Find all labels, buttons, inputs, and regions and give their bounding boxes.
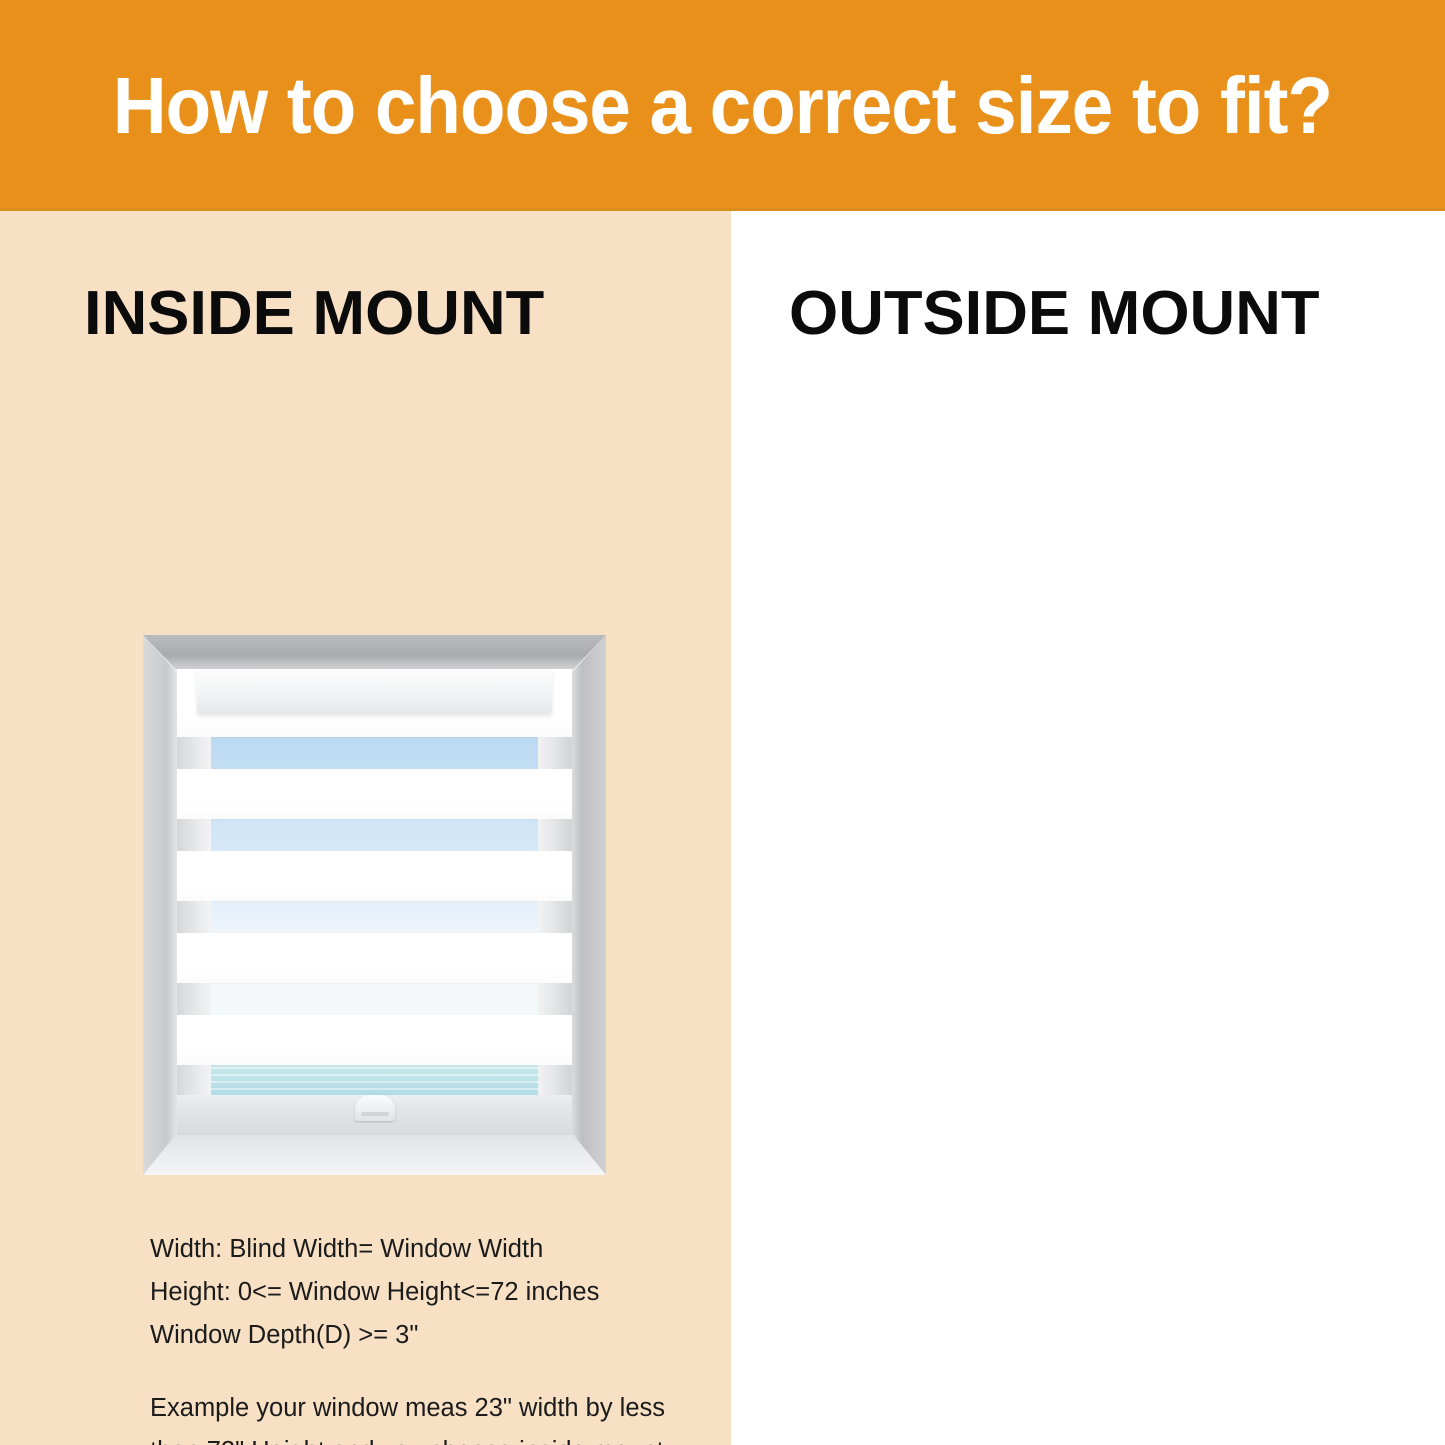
window-sill [143, 1135, 606, 1175]
window-reveal-left [143, 635, 177, 1175]
page-title: How to choose a correct size to fit? [113, 60, 1332, 152]
blind-opaque-band [177, 1015, 572, 1065]
window-reveal-top [143, 635, 606, 669]
blind-sheer-slot [177, 1065, 572, 1097]
inside-mount-panel: INSIDE MOUNT [0, 211, 731, 1445]
blind-opaque-band [177, 851, 572, 901]
blind-headrail [197, 669, 553, 713]
inside-mount-heading: INSIDE MOUNT [84, 278, 544, 349]
blind-sheer-slot [177, 737, 572, 769]
inside-mount-window-diagram [143, 635, 606, 1175]
outside-mount-heading: OUTSIDE MOUNT [789, 278, 1320, 349]
outside-mount-panel: OUTSIDE MOUNT [731, 211, 1445, 1445]
page-header-banner: How to choose a correct size to fit? [0, 0, 1445, 211]
blind-opaque-band [177, 769, 572, 819]
inside-mount-example: Example your window meas 23" width by le… [150, 1387, 695, 1445]
blind-bottom-rail [177, 1095, 572, 1135]
blind-sheer-slot [177, 983, 572, 1015]
blind-sheer-slot [177, 901, 572, 933]
window-frame [143, 635, 606, 1175]
blind-opaque-band [177, 933, 572, 983]
window-glass-area [177, 669, 572, 1135]
window-reveal-right [572, 635, 606, 1175]
zebra-blind-fabric [177, 669, 572, 1135]
blind-handle[interactable] [355, 1095, 395, 1121]
comparison-panels: INSIDE MOUNT [0, 211, 1445, 1445]
blind-sheer-slot [177, 819, 572, 851]
infographic-page: How to choose a correct size to fit? INS… [0, 0, 1445, 1445]
inside-mount-specs: Width: Blind Width= Window Width Height:… [150, 1228, 695, 1357]
